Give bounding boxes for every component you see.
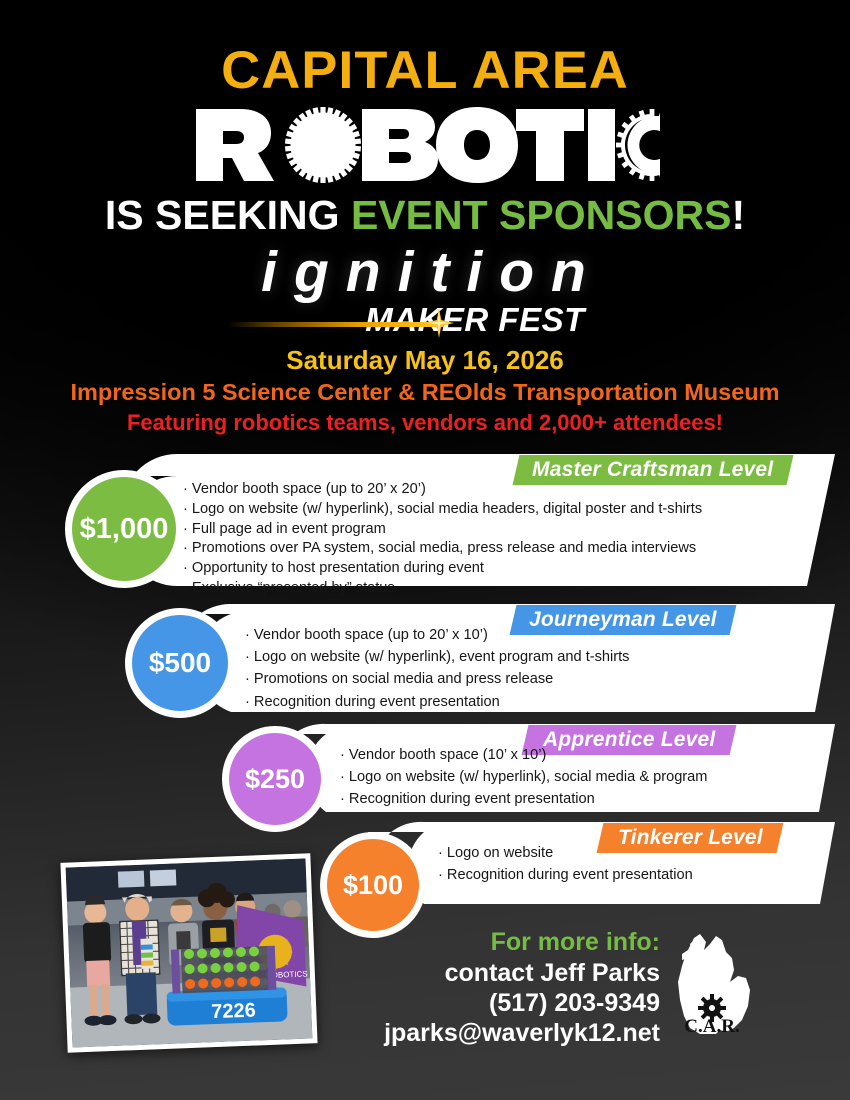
gear-letter-c (612, 105, 660, 184)
tier-amount-label: $100 (343, 870, 403, 901)
flyer-header: CAPITAL AREA (0, 0, 850, 236)
contact-email[interactable]: jparks@waverlyk12.net (330, 1018, 660, 1048)
benefit-item: · Recognition during event presentation (438, 864, 693, 886)
tier-benefits-list: · Vendor booth space (10’ x 10’) · Logo … (340, 744, 707, 811)
tier-apprentice[interactable]: Apprentice Level · Vendor booth space (1… (222, 722, 835, 814)
benefit-item: · Full page ad in event program (183, 520, 702, 540)
team-photo: ROBOTICS 7226 (60, 853, 317, 1052)
benefit-item: · Recognition during event presentation (245, 691, 629, 713)
event-featuring: Featuring robotics teams, vendors and 2,… (0, 409, 850, 437)
benefit-item: · Vendor booth space (10’ x 10’) (340, 744, 707, 766)
tier-amount-circle-tinkerer[interactable]: $100 (320, 832, 426, 938)
benefit-item: · Exclusive “presented by” status (183, 579, 702, 599)
tier-amount-circle-journeyman[interactable]: $500 (125, 608, 235, 718)
benefit-item: · Logo on website (438, 842, 693, 864)
tier-master-craftsman[interactable]: Master Craftsman Level · Vendor booth sp… (65, 452, 835, 588)
contact-name: contact Jeff Parks (330, 958, 660, 988)
tier-name-label: Master Craftsman Level (532, 458, 773, 482)
contact-heading: For more info: (330, 928, 660, 958)
sponsorship-flyer: CAPITAL AREA (0, 0, 850, 1100)
ignition-wordmark: ignition (14, 244, 850, 301)
tier-amount-label: $500 (149, 647, 211, 679)
tagline-green: EVENT SPONSORS (351, 192, 731, 238)
benefit-item: · Vendor booth space (up to 20’ x 20’) (183, 480, 702, 500)
robotics-wordmark (0, 103, 850, 187)
tagline-end: ! (731, 192, 745, 238)
svg-text:7226: 7226 (211, 999, 256, 1023)
gear-letter-o (285, 107, 361, 183)
contact-phone[interactable]: (517) 203-9349 (330, 988, 660, 1018)
event-date: Saturday May 16, 2026 (0, 346, 850, 376)
benefit-item: · Promotions over PA system, social medi… (183, 539, 702, 559)
spark-star-icon (424, 308, 454, 338)
org-name-top: CAPITAL AREA (0, 0, 850, 97)
ignition-maker-fest-logo: ignition MAKER FEST (0, 244, 850, 341)
maker-fest-label: MAKER FEST (365, 301, 585, 339)
spark-streak-icon (228, 322, 443, 327)
car-michigan-logo: C.A.R. (660, 928, 785, 1053)
car-initials: C.A.R. (684, 1016, 739, 1037)
tier-benefits-list: · Vendor booth space (up to 20’ x 10’) ·… (245, 624, 629, 713)
tier-amount-circle-master-craftsman[interactable]: $1,000 (65, 470, 183, 588)
tagline-white: IS SEEKING (105, 192, 351, 238)
benefit-item: · Vendor booth space (up to 20’ x 10’) (245, 624, 629, 646)
contact-block: For more info: contact Jeff Parks (517) … (330, 928, 660, 1048)
event-info: Saturday May 16, 2026 Impression 5 Scien… (0, 346, 850, 437)
benefit-item: · Logo on website (w/ hyperlink), social… (340, 766, 707, 788)
benefit-item: · Recognition during event presentation (340, 788, 707, 810)
tier-benefits-list: · Logo on website · Recognition during e… (438, 842, 693, 886)
tier-amount-label: $1,000 (80, 513, 169, 546)
tier-journeyman[interactable]: Journeyman Level · Vendor booth space (u… (125, 602, 835, 714)
benefit-item: · Opportunity to host presentation durin… (183, 559, 702, 579)
tier-amount-label: $250 (245, 764, 305, 795)
benefit-item: · Promotions on social media and press r… (245, 668, 629, 690)
tier-benefits-list: · Vendor booth space (up to 20’ x 20’) ·… (183, 480, 702, 599)
event-venue: Impression 5 Science Center & REOlds Tra… (0, 378, 850, 407)
tier-amount-circle-apprentice[interactable]: $250 (222, 726, 328, 832)
benefit-item: · Logo on website (w/ hyperlink), event … (245, 646, 629, 668)
tier-tinkerer[interactable]: Tinkerer Level · Logo on website · Recog… (320, 820, 835, 906)
tagline: IS SEEKING EVENT SPONSORS! (0, 195, 850, 236)
benefit-item: · Logo on website (w/ hyperlink), social… (183, 500, 702, 520)
